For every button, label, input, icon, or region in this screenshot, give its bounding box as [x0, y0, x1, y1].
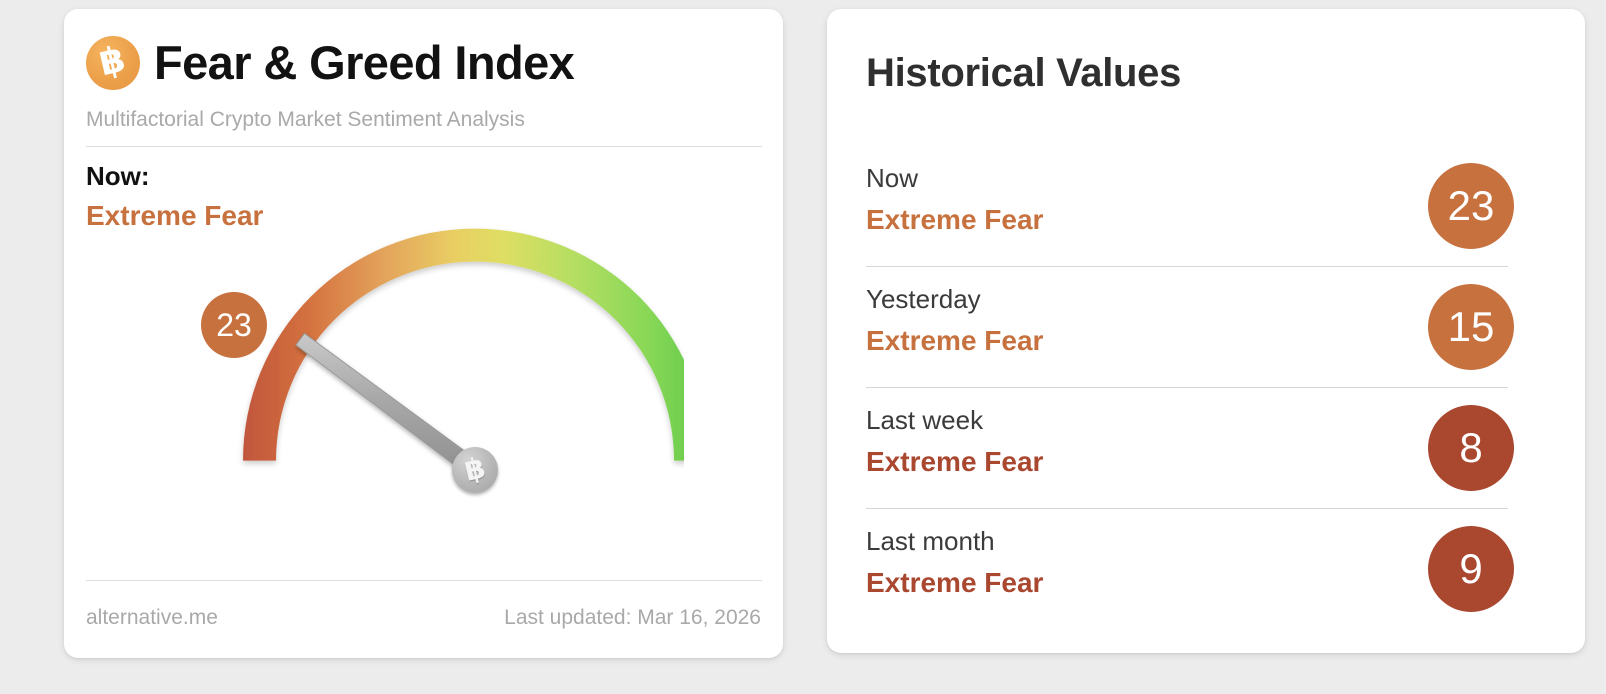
- now-label: Now:: [86, 161, 150, 192]
- history-period-label: Yesterday: [866, 283, 1043, 316]
- gauge-chart: ฿ 23: [164, 224, 684, 569]
- history-row-text: YesterdayExtreme Fear: [866, 266, 1043, 360]
- gauge-card-header: ฿ Fear & Greed Index: [86, 35, 574, 90]
- history-period-label: Last week: [866, 404, 1043, 437]
- history-sentiment-label: Extreme Fear: [866, 564, 1043, 602]
- gauge-needle-hub: ฿: [452, 447, 498, 493]
- history-row-text: NowExtreme Fear: [866, 145, 1043, 239]
- history-value-badge: 23: [1428, 163, 1514, 249]
- history-sentiment-label: Extreme Fear: [866, 201, 1043, 239]
- gauge-svg: [164, 224, 684, 569]
- page-subtitle: Multifactorial Crypto Market Sentiment A…: [86, 108, 525, 132]
- source-link[interactable]: alternative.me: [86, 606, 218, 630]
- historical-values-card: Historical Values NowExtreme Fear23Yeste…: [827, 9, 1585, 653]
- page-root: ฿ Fear & Greed Index Multifactorial Cryp…: [0, 0, 1606, 694]
- history-value-badge: 9: [1428, 526, 1514, 612]
- history-value-badge: 8: [1428, 405, 1514, 491]
- gauge-value-bubble: 23: [201, 292, 267, 358]
- footer-divider: [86, 580, 762, 581]
- history-sentiment-label: Extreme Fear: [866, 443, 1043, 481]
- history-row: YesterdayExtreme Fear15: [866, 266, 1548, 387]
- history-row-text: Last weekExtreme Fear: [866, 387, 1043, 481]
- fear-greed-gauge-card: ฿ Fear & Greed Index Multifactorial Cryp…: [64, 9, 783, 658]
- bitcoin-hub-icon: ฿: [462, 453, 488, 486]
- bitcoin-icon: ฿: [86, 36, 140, 90]
- header-divider: [86, 146, 762, 147]
- history-period-label: Now: [866, 162, 1043, 195]
- history-row: NowExtreme Fear23: [866, 145, 1548, 266]
- page-title: Fear & Greed Index: [154, 35, 574, 90]
- history-row: Last monthExtreme Fear9: [866, 508, 1548, 629]
- historical-values-title: Historical Values: [866, 51, 1181, 96]
- history-value-badge: 15: [1428, 284, 1514, 370]
- bitcoin-icon-glyph: ฿: [97, 41, 130, 82]
- gauge-needle: [296, 334, 483, 479]
- history-period-label: Last month: [866, 525, 1043, 558]
- historical-values-list: NowExtreme Fear23YesterdayExtreme Fear15…: [866, 145, 1548, 629]
- last-updated-text: Last updated: Mar 16, 2026: [504, 606, 761, 630]
- history-row: Last weekExtreme Fear8: [866, 387, 1548, 508]
- history-sentiment-label: Extreme Fear: [866, 322, 1043, 360]
- history-row-text: Last monthExtreme Fear: [866, 508, 1043, 602]
